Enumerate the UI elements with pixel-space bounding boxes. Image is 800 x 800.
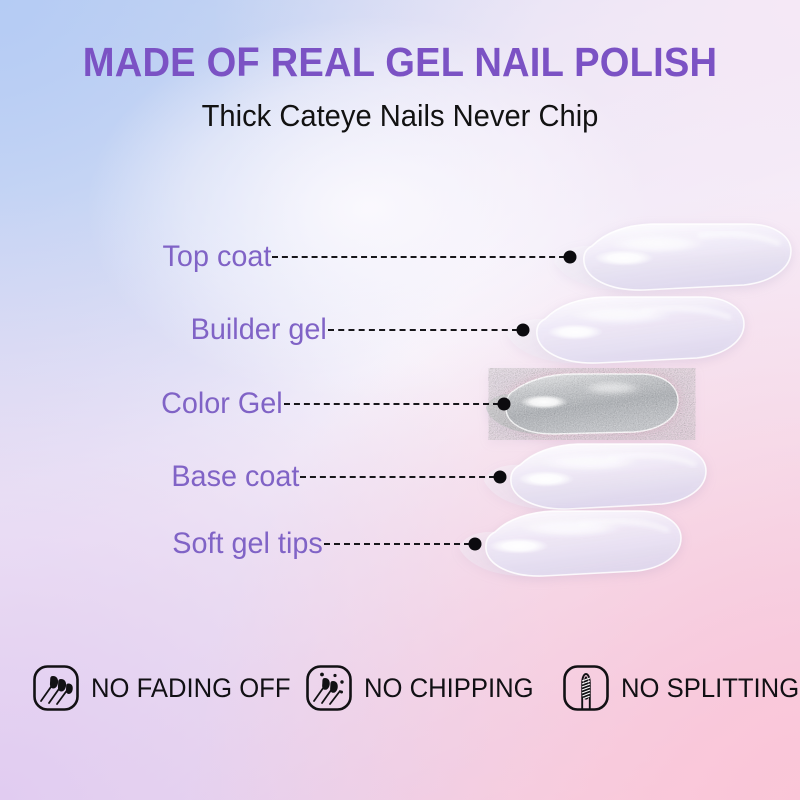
no-chipping-nails-icon — [305, 664, 353, 712]
nail-shape-base-coat — [478, 439, 710, 515]
feature-badge-no-fading-off: NO FADING OFF — [32, 656, 301, 720]
no-splitting-nail-icon — [562, 664, 610, 712]
diagram-label-base-coat: Base coat — [171, 462, 299, 492]
feature-label-no-chipping: NO CHIPPING — [364, 675, 534, 702]
leader-line-base-coat — [300, 476, 495, 478]
leader-dot-builder-gel — [517, 324, 530, 337]
feature-label-no-fading-off: NO FADING OFF — [91, 675, 291, 702]
leader-line-builder-gel — [328, 329, 518, 331]
nail-shape-top-coat — [548, 218, 796, 296]
product-infographic: MADE OF REAL GEL NAIL POLISH Thick Catey… — [0, 0, 800, 800]
leader-line-soft-gel-tips — [324, 543, 470, 545]
leader-dot-base-coat — [494, 471, 507, 484]
feature-badge-no-splitting: NO SPLITTING — [562, 656, 800, 720]
feature-badge-no-chipping: NO CHIPPING — [305, 656, 543, 720]
nail-shape-builder-gel — [501, 291, 749, 369]
no-fading-nails-icon — [32, 664, 80, 712]
diagram-label-color-gel: Color Gel — [161, 389, 283, 419]
nail-shape-color-gel — [482, 370, 682, 438]
diagram-label-soft-gel-tips: Soft gel tips — [173, 529, 323, 559]
diagram-label-top-coat: Top coat — [162, 242, 271, 272]
diagram-label-builder-gel: Builder gel — [191, 315, 327, 345]
leader-dot-color-gel — [498, 398, 511, 411]
nail-shape-soft-gel-tips — [453, 506, 685, 582]
feature-label-no-splitting: NO SPLITTING — [621, 675, 799, 702]
leader-line-color-gel — [284, 403, 499, 405]
leader-dot-top-coat — [564, 251, 577, 264]
feature-badge-row: NO FADING OFF — [0, 656, 800, 720]
leader-line-top-coat — [272, 256, 565, 258]
leader-dot-soft-gel-tips — [469, 538, 482, 551]
